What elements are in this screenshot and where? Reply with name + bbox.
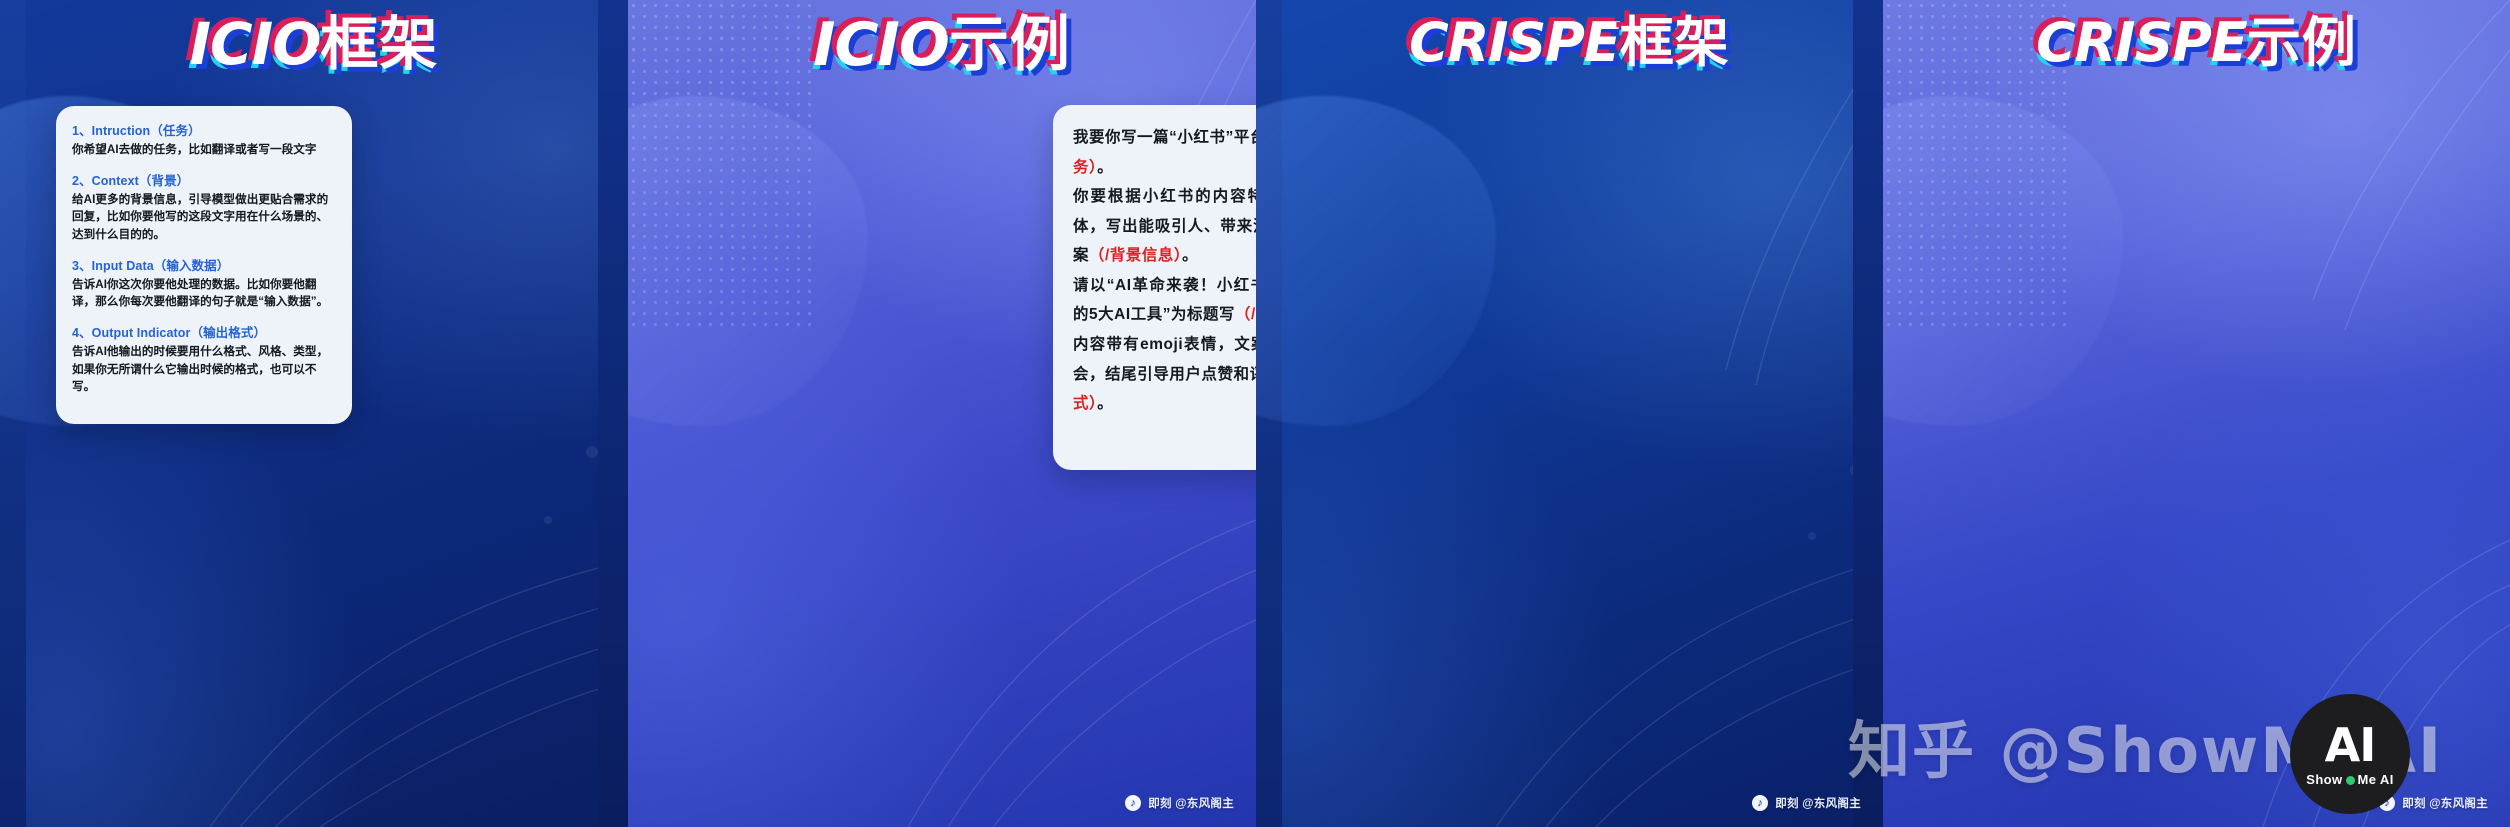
prose-run-highlight: （/输入数据） (1235, 306, 1256, 323)
item-body: 你希望AI去做的任务，比如翻译或者写一段文字 (72, 141, 336, 159)
panel-title-wrap: ICIO示例 (628, 14, 1256, 78)
jike-icon: ♪ (2379, 795, 2395, 811)
jike-icon: ♪ (1125, 795, 1141, 811)
page-title: CRISPE示例 (2036, 14, 2357, 71)
slide-strip: ICIO框架 1、Intruction（任务） 你希望AI去做的任务，比如翻译或… (0, 0, 2510, 827)
prose-run: 。 (1182, 247, 1198, 264)
prose-run-highlight: （/背景信息） (1089, 247, 1182, 264)
credit-text: 即刻 @东风阁主 (1148, 795, 1234, 811)
jike-icon: ♪ (1752, 795, 1768, 811)
page-title: ICIO框架 (189, 14, 438, 75)
panel-right-edge (1853, 0, 1883, 827)
list-item: 1、Intruction（任务） 你希望AI去做的任务，比如翻译或者写一段文字 (72, 122, 336, 159)
prose-paragraph: 请以“AI革命来袭！小红书创业者必备的5大AI工具”为标题写（/输入数据）。 (1073, 271, 1256, 330)
credit-footer: ♪ 即刻 @东风阁主 (1125, 795, 1234, 811)
prose-paragraph: 我要你写一篇“小红书”平台的文案（/任务）。 (1073, 123, 1256, 182)
decor-swoosh (1256, 0, 1883, 827)
page-title: CRISPE框架 (1409, 14, 1730, 71)
item-heading: 2、Context（背景） (72, 172, 336, 190)
example-prose: 我要你写一篇“小红书”平台的文案（/任务）。 你要根据小红书的内容特点和用户群体… (1073, 123, 1256, 419)
prose-paragraph: 你要根据小红书的内容特点和用户群体，写出能吸引人、带来流量的爆款文案（/背景信息… (1073, 182, 1256, 271)
item-body: 告诉AI他输出的时候要用什么格式、风格、类型，如果你无所谓什么它输出时候的格式，… (72, 343, 336, 396)
item-body: 告诉AI你这次你要他处理的数据。比如你要他翻译，那么你每次要他翻译的句子就是“输… (72, 276, 336, 311)
panel-title-wrap: CRISPE示例 (1883, 14, 2510, 71)
prose-run: 请以“AI革命来袭！小红书创业者必备的5大AI工具”为标题写 (1073, 277, 1256, 324)
item-heading: 3、Input Data（输入数据） (72, 257, 336, 275)
decor-blob (1883, 96, 2123, 426)
panel-crispe-framework: CRISPE框架 1、Capacity and Role（角色） 告诉AI你要他… (1256, 0, 1883, 827)
item-heading: 4、Output Indicator（输出格式） (72, 324, 336, 342)
decor-blob (1256, 96, 1496, 426)
panel-left-edge (0, 0, 26, 827)
content-card: 1、Intruction（任务） 你希望AI去做的任务，比如翻译或者写一段文字 … (56, 106, 352, 424)
panel-title-wrap: ICIO框架 (0, 14, 628, 75)
credit-footer: ♪ 即刻 @东风阁主 (1752, 795, 1861, 811)
prose-paragraph: 内容带有emoji表情，文案带入个人体会，结尾引导用户点赞和评论（/输出格式）。 (1073, 330, 1256, 419)
item-body: 给AI更多的背景信息，引导模型做出更贴合需求的回复，比如你要他写的这段文字用在什… (72, 191, 336, 244)
list-item: 3、Input Data（输入数据） 告诉AI你这次你要他处理的数据。比如你要他… (72, 257, 336, 311)
list-item: 4、Output Indicator（输出格式） 告诉AI他输出的时候要用什么格… (72, 324, 336, 396)
prose-run: 我要你写一篇“小红书”平台的文案 (1073, 129, 1256, 146)
panel-title-wrap: CRISPE框架 (1256, 14, 1883, 71)
credit-text: 即刻 @东风阁主 (1775, 795, 1861, 811)
decor-swoosh (1883, 0, 2510, 827)
panel-icio-example: ICIO示例 我要你写一篇“小红书”平台的文案（/任务）。 你要根据小红书的内容… (628, 0, 1256, 827)
content-card: 我要你写一篇“小红书”平台的文案（/任务）。 你要根据小红书的内容特点和用户群体… (1053, 105, 1256, 470)
panel-icio-framework: ICIO框架 1、Intruction（任务） 你希望AI去做的任务，比如翻译或… (0, 0, 628, 827)
prose-run: 。 (1097, 395, 1113, 412)
item-heading: 1、Intruction（任务） (72, 122, 336, 140)
panel-crispe-example: CRISPE示例 我要你作为一位关于机器学习框架的软件开发专家和博客作家（/角色… (1883, 0, 2510, 827)
credit-footer: ♪ 即刻 @东风阁主 (2379, 795, 2488, 811)
credit-text: 即刻 @东风阁主 (2402, 795, 2488, 811)
prose-run: 内容带有emoji表情，文案带入个人体会，结尾引导用户点赞和评论 (1073, 336, 1256, 383)
page-title: ICIO示例 (813, 14, 1071, 78)
panel-left-edge (1256, 0, 1282, 827)
list-item: 2、Context（背景） 给AI更多的背景信息，引导模型做出更贴合需求的回复，… (72, 172, 336, 244)
prose-run: 。 (1097, 159, 1113, 176)
decor-blob (628, 96, 868, 426)
panel-right-edge (598, 0, 628, 827)
